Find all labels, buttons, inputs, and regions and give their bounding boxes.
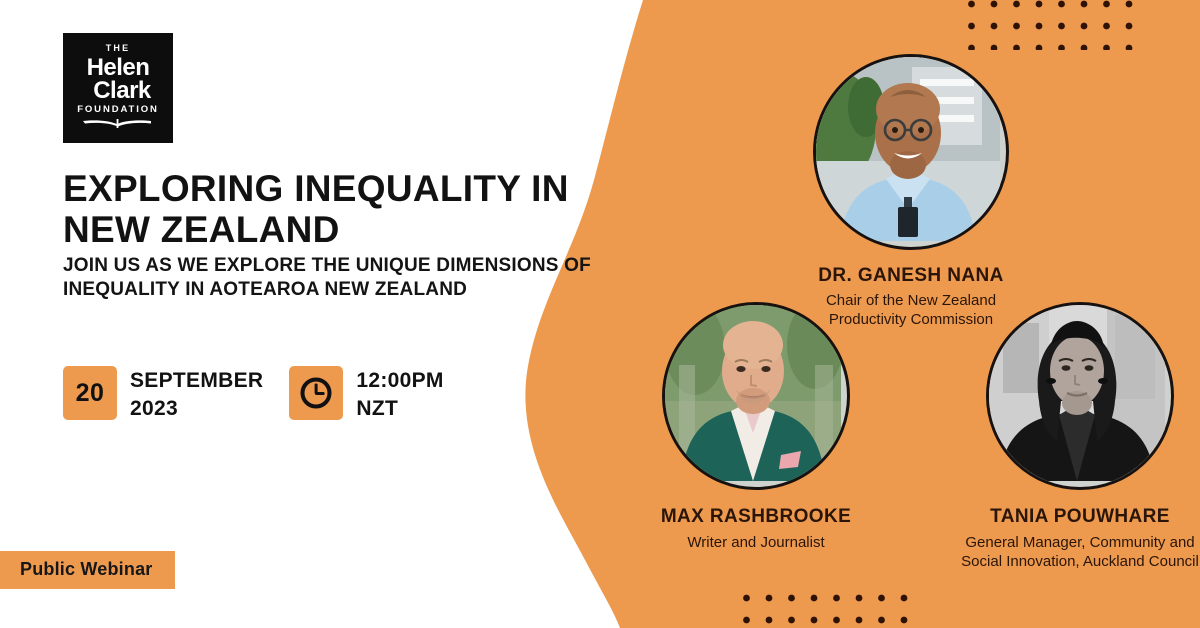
portrait-tania-pouwhare (989, 305, 1165, 481)
logo-clark-text: Clark (93, 79, 151, 102)
avatar (813, 54, 1009, 250)
avatar (662, 302, 850, 490)
left-content-column: THE Helen Clark FOUNDATION EXPLORING INE… (0, 0, 620, 628)
portrait-max-rashbrooke (665, 305, 841, 481)
date-year: 2023 (130, 395, 263, 423)
date-day: 20 (76, 379, 105, 408)
speaker-card-rashbrooke: MAX RASHBROOKE Writer and Journalist (632, 302, 880, 553)
speaker-card-pouwhare: TANIA POUWHARE General Manager, Communit… (960, 302, 1200, 572)
event-meta-row: 20 SEPTEMBER 2023 12:00PM NZT (63, 366, 444, 422)
time-value: 12:00PM (356, 367, 443, 395)
helen-clark-foundation-logo[interactable]: THE Helen Clark FOUNDATION (63, 33, 173, 143)
speaker-card-nana: DR. GANESH NANA Chair of the New Zealand… (790, 54, 1032, 330)
time-text: 12:00PM NZT (356, 366, 443, 422)
speaker-name: TANIA POUWHARE (960, 506, 1200, 528)
public-webinar-badge: Public Webinar (0, 551, 175, 589)
dot-grid-top-right (968, 0, 1148, 50)
speaker-role: General Manager, Community and Social In… (960, 534, 1200, 572)
event-time: 12:00PM NZT (289, 366, 443, 422)
clock-icon (298, 375, 334, 411)
page-title: EXPLORING INEQUALITY IN NEW ZEALAND (63, 168, 603, 251)
logo-helen-text: Helen (87, 56, 150, 79)
speaker-name: DR. GANESH NANA (790, 265, 1032, 287)
portrait-ganesh-nana (816, 57, 1000, 241)
logo-foundation-text: FOUNDATION (77, 105, 159, 115)
open-book-icon (81, 118, 155, 132)
avatar (986, 302, 1174, 490)
logo-the-text: THE (106, 44, 131, 53)
speaker-name: MAX RASHBROOKE (632, 506, 880, 528)
date-text: SEPTEMBER 2023 (130, 366, 263, 422)
page-subtitle: JOIN US AS WE EXPLORE THE UNIQUE DIMENSI… (63, 254, 615, 303)
time-badge (289, 366, 343, 420)
date-badge: 20 (63, 366, 117, 420)
speaker-role: Writer and Journalist (632, 534, 880, 553)
dot-grid-bottom (733, 586, 918, 628)
webinar-poster: THE Helen Clark FOUNDATION EXPLORING INE… (0, 0, 1200, 628)
event-date: 20 SEPTEMBER 2023 (63, 366, 263, 422)
time-timezone: NZT (356, 395, 443, 423)
date-month: SEPTEMBER (130, 367, 263, 395)
